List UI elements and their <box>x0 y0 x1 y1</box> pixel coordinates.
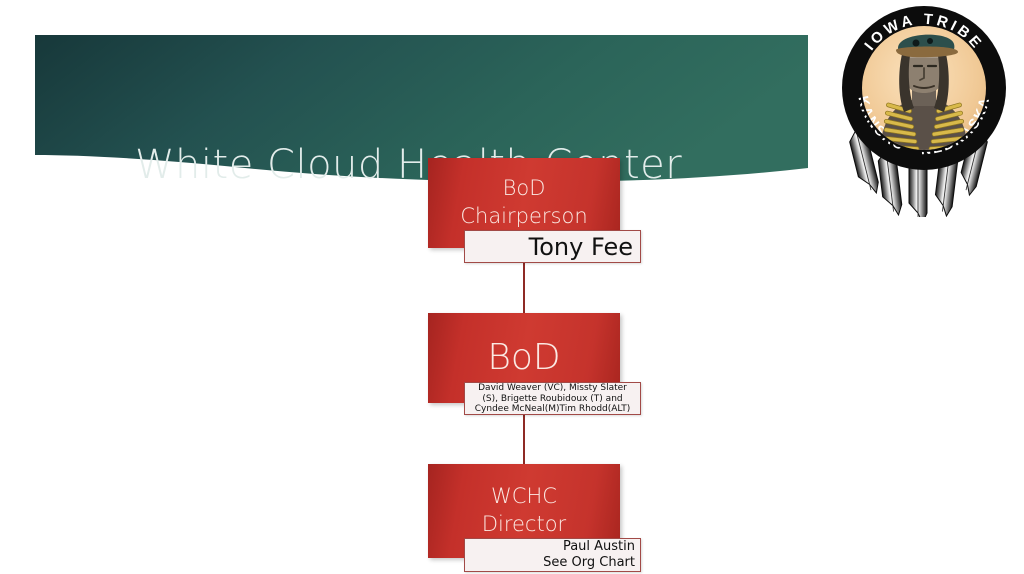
connector-chair-to-bod <box>523 260 525 318</box>
org-node-wchc-director[interactable]: WCHC Director Paul Austin See Org Chart <box>428 464 643 574</box>
org-node-bod-label-line-3: Cyndee McNeal(M)Tim Rhodd(ALT) <box>468 404 637 415</box>
org-node-bod-chairperson-title-line-1: BoD <box>503 175 546 203</box>
org-node-bod-chairperson-label[interactable]: Tony Fee <box>464 230 641 263</box>
org-node-wchc-director-label-line-2: See Org Chart <box>465 555 635 571</box>
org-node-wchc-director-title-line-1: WCHC <box>491 483 557 511</box>
org-node-bod-title-line-1: BoD <box>487 334 560 382</box>
org-node-bod[interactable]: BoD David Weaver (VC), Missty Slater (S)… <box>428 313 643 418</box>
org-node-bod-label-line-1: David Weaver (VC), Missty Slater <box>468 383 637 394</box>
org-node-wchc-director-title-line-2: Director <box>482 511 566 539</box>
org-node-bod-chairperson-title-line-2: Chairperson <box>460 203 587 231</box>
org-node-wchc-director-label-line-1: Paul Austin <box>465 539 635 555</box>
org-node-bod-label[interactable]: David Weaver (VC), Missty Slater (S), Br… <box>464 382 641 415</box>
org-node-bod-chairperson[interactable]: BoD Chairperson Tony Fee <box>428 158 643 268</box>
slide-canvas: White Cloud Health Center <box>0 0 1024 572</box>
org-node-wchc-director-label[interactable]: Paul Austin See Org Chart <box>464 538 641 572</box>
org-node-bod-label-line-2: (S), Brigette Roubidoux (T) and <box>468 394 637 405</box>
org-node-bod-chairperson-label-line-1: Tony Fee <box>465 232 633 262</box>
connector-bod-to-director <box>523 414 525 466</box>
org-chart: BoD Chairperson Tony Fee BoD David Weave… <box>0 0 1024 572</box>
